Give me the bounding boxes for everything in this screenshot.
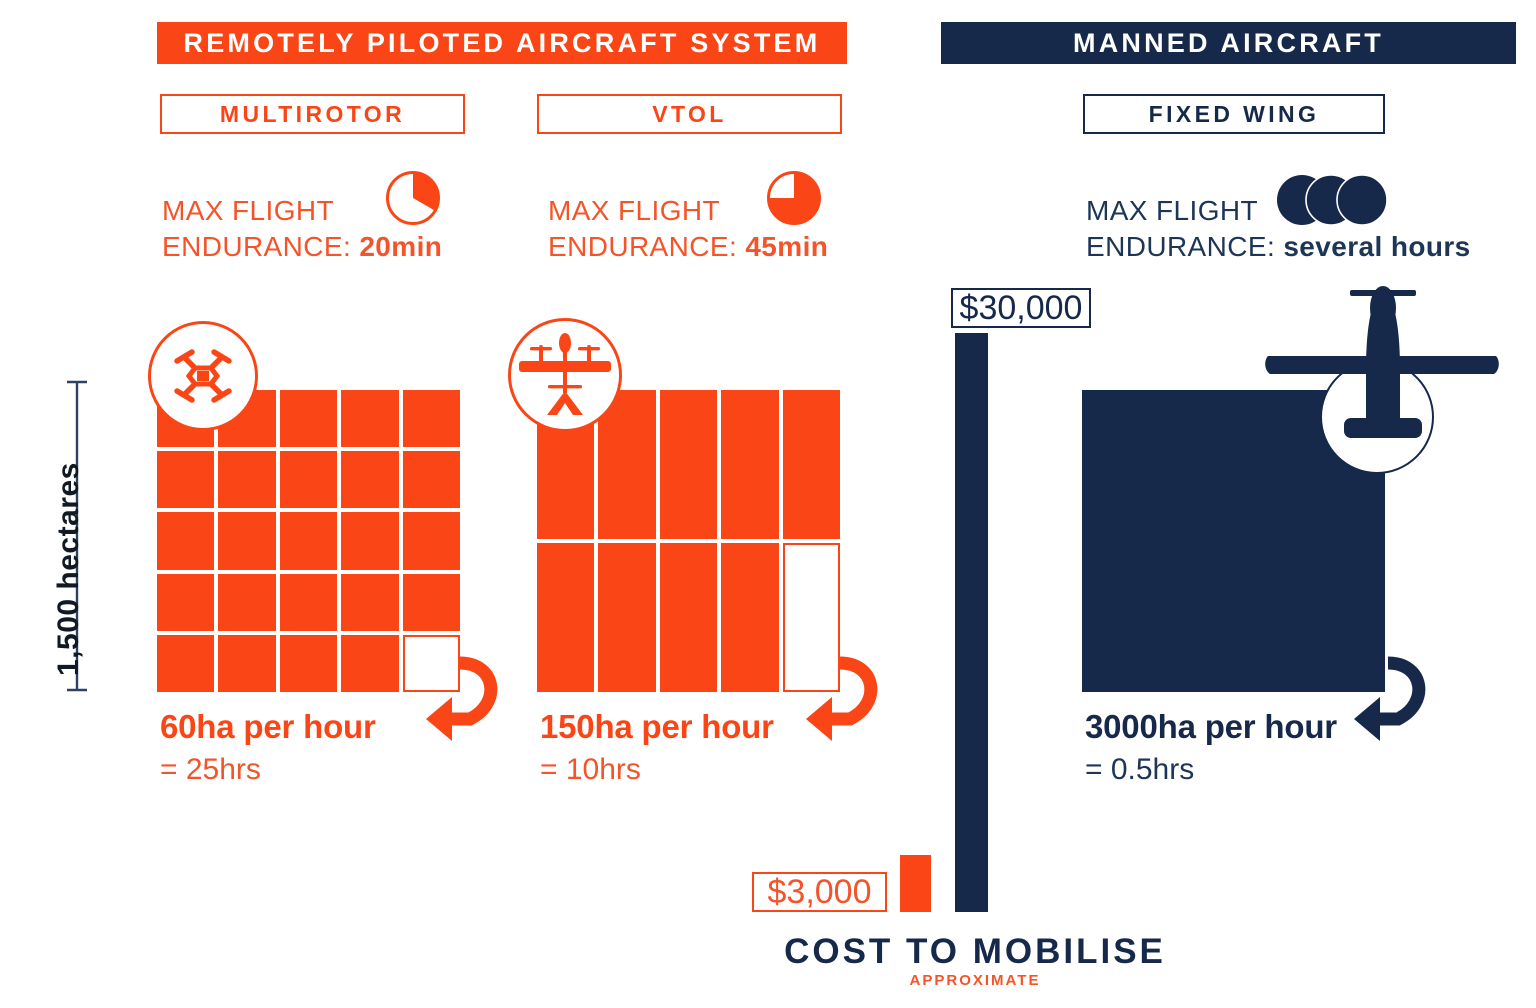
grid-cell	[341, 390, 398, 447]
grid-cell	[218, 451, 275, 508]
pie-chart-20min-icon	[385, 170, 441, 226]
multirotor-rate-label: 60ha per hour	[160, 708, 376, 746]
cost-bar-manned	[955, 333, 988, 912]
endurance-value-multirotor: 20min	[359, 231, 442, 262]
header-banner-manned: MANNED AIRCRAFT	[941, 22, 1516, 64]
grid-cell	[403, 390, 460, 447]
grid-cell	[280, 390, 337, 447]
grid-cell	[218, 574, 275, 631]
cost-bar-rpas	[900, 855, 931, 912]
subtab-multirotor[interactable]: MULTIROTOR	[160, 94, 465, 134]
grid-cell	[660, 390, 717, 539]
multirotor-area-grid	[157, 390, 460, 692]
vtol-hours-label: = 10hrs	[540, 753, 641, 787]
endurance-line2-fixedwing: ENDURANCE: several hours	[1086, 229, 1471, 265]
fixedwing-rate-label: 3000ha per hour	[1085, 708, 1337, 746]
fixed-wing-aircraft-icon	[1262, 278, 1502, 468]
grid-cell	[660, 543, 717, 692]
grid-cell	[157, 512, 214, 569]
grid-cell	[721, 390, 778, 539]
cost-to-mobilise-subtitle: APPROXIMATE	[700, 972, 1250, 989]
manned-price-tag: $30,000	[951, 288, 1091, 328]
grid-cell	[157, 635, 214, 692]
endurance-value-vtol: 45min	[745, 231, 828, 262]
subtab-vtol[interactable]: VTOL	[537, 94, 842, 134]
grid-cell	[280, 635, 337, 692]
grid-cell	[341, 512, 398, 569]
grid-cell	[783, 390, 840, 539]
endurance-label-multirotor: ENDURANCE:	[162, 231, 351, 262]
grid-cell	[721, 543, 778, 692]
vtol-aircraft-icon	[517, 327, 613, 423]
hectares-axis-label: 1,500 hectares	[52, 462, 86, 676]
grid-cell	[537, 543, 594, 692]
grid-cell	[403, 512, 460, 569]
grid-cell	[280, 574, 337, 631]
vtol-area-grid	[537, 390, 840, 692]
endurance-label-fixedwing: ENDURANCE:	[1086, 231, 1275, 262]
rpas-price-tag: $3,000	[752, 872, 887, 912]
multirotor-icon-badge	[148, 321, 258, 431]
quadcopter-drone-icon	[165, 338, 241, 414]
loop-arrow-icon	[408, 655, 508, 765]
vtol-icon-badge	[508, 318, 622, 432]
subtab-fixed-wing[interactable]: FIXED WING	[1083, 94, 1385, 134]
multirotor-hours-label: = 25hrs	[160, 753, 261, 787]
grid-cell	[598, 543, 655, 692]
grid-cell	[341, 451, 398, 508]
grid-cell	[218, 635, 275, 692]
pie-chart-45min-icon	[766, 170, 822, 226]
vtol-rate-label: 150ha per hour	[540, 708, 774, 746]
grid-cell	[280, 451, 337, 508]
cost-to-mobilise-title: COST TO MOBILISE	[700, 932, 1250, 972]
grid-cell	[403, 574, 460, 631]
grid-cell	[218, 512, 275, 569]
endurance-label-vtol: ENDURANCE:	[548, 231, 737, 262]
grid-cell	[280, 512, 337, 569]
grid-cell	[341, 574, 398, 631]
fixedwing-hours-label: = 0.5hrs	[1085, 753, 1194, 787]
loop-arrow-icon	[1336, 655, 1436, 765]
endurance-line2-vtol: ENDURANCE: 45min	[548, 229, 828, 265]
endurance-value-fixedwing: several hours	[1283, 231, 1470, 262]
grid-cell	[157, 574, 214, 631]
grid-cell	[157, 451, 214, 508]
grid-cell	[403, 451, 460, 508]
loop-arrow-icon	[788, 655, 888, 765]
three-circles-icon	[1276, 174, 1388, 226]
infographic-canvas: REMOTELY PILOTED AIRCRAFT SYSTEM MANNED …	[0, 0, 1536, 1008]
header-banner-rpas: REMOTELY PILOTED AIRCRAFT SYSTEM	[157, 22, 847, 64]
grid-cell	[341, 635, 398, 692]
endurance-line2-multirotor: ENDURANCE: 20min	[162, 229, 442, 265]
